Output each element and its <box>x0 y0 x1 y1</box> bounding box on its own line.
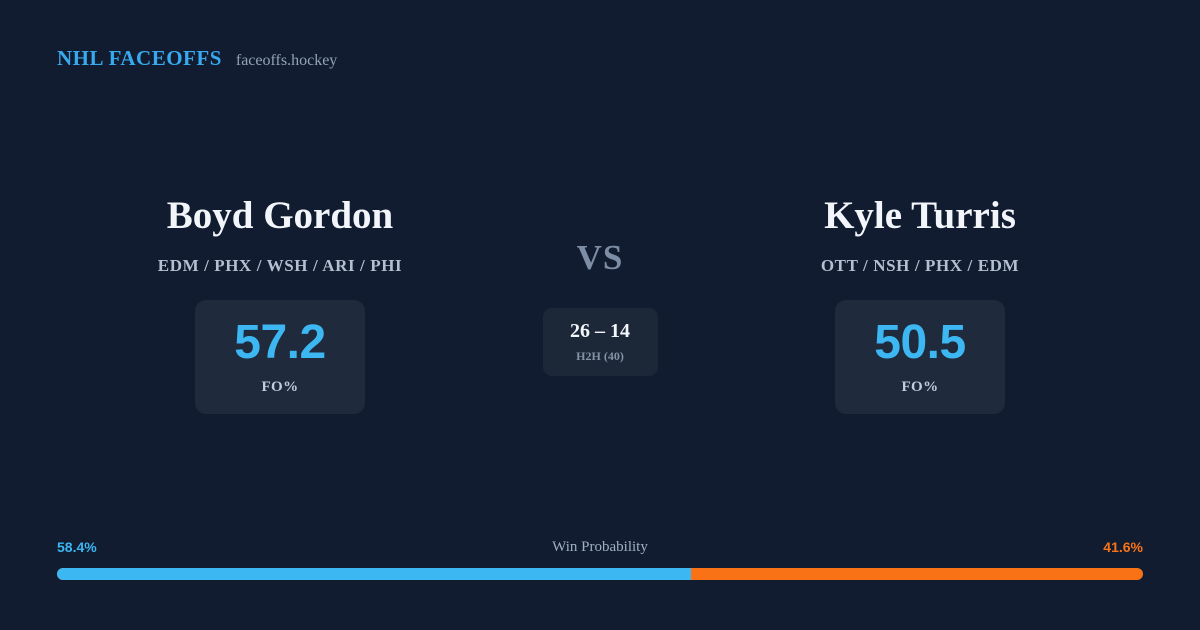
win-probability-bar-left-fill <box>57 568 691 580</box>
win-probability-labels: 58.4% Win Probability 41.6% <box>57 537 1143 557</box>
player-teams-left: EDM / PHX / WSH / ARI / PHI <box>158 256 402 276</box>
head-to-head-label: H2H (40) <box>576 349 624 364</box>
head-to-head-card: 26 – 14 H2H (40) <box>543 308 658 376</box>
matchup-row: Boyd Gordon EDM / PHX / WSH / ARI / PHI … <box>0 196 1200 414</box>
stat-card-left: 57.2 FO% <box>195 300 365 414</box>
brand-domain: faceoffs.hockey <box>236 52 337 70</box>
player-teams-right: OTT / NSH / PHX / EDM <box>821 256 1019 276</box>
versus-block: VS 26 – 14 H2H (40) <box>500 196 700 376</box>
player-name-right: Kyle Turris <box>824 196 1016 235</box>
share-card: NHL FACEOFFS faceoffs.hockey Boyd Gordon… <box>0 0 1200 630</box>
site-header: NHL FACEOFFS faceoffs.hockey <box>57 46 337 71</box>
stat-label-right: FO% <box>901 379 938 396</box>
player-card-right: Kyle Turris OTT / NSH / PHX / EDM 50.5 F… <box>700 196 1140 414</box>
stat-card-right: 50.5 FO% <box>835 300 1005 414</box>
win-probability-section: 58.4% Win Probability 41.6% <box>57 537 1143 580</box>
win-probability-title: Win Probability <box>552 537 648 557</box>
stat-label-left: FO% <box>261 379 298 396</box>
stat-value-left: 57.2 <box>234 319 325 367</box>
head-to-head-record: 26 – 14 <box>570 321 630 341</box>
player-name-left: Boyd Gordon <box>167 196 393 235</box>
win-probability-left-value: 58.4% <box>57 537 97 557</box>
stat-value-right: 50.5 <box>874 319 965 367</box>
brand-title: NHL FACEOFFS <box>57 46 222 71</box>
win-probability-right-value: 41.6% <box>1103 537 1143 557</box>
player-card-left: Boyd Gordon EDM / PHX / WSH / ARI / PHI … <box>60 196 500 414</box>
versus-label: VS <box>577 240 624 275</box>
win-probability-bar <box>57 568 1143 580</box>
